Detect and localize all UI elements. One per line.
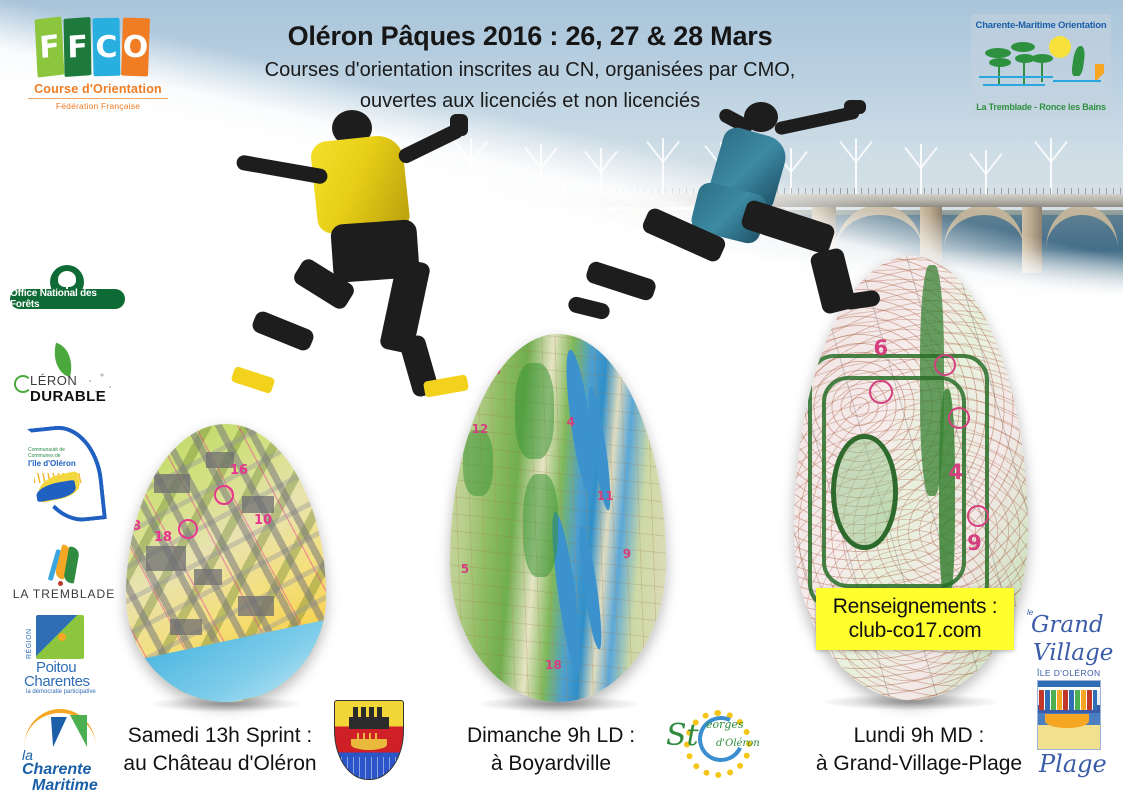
event-caption-samedi-line1: Samedi 13h Sprint :: [96, 722, 344, 750]
runner-icon: [1071, 46, 1086, 76]
cmo-title: Charente-Maritime Orientation: [971, 20, 1111, 31]
ffco-caption-secondary: Fédération Française: [28, 98, 168, 111]
event-caption-samedi: Samedi 13h Sprint : au Château d'Oléron: [96, 722, 344, 777]
control-number: 8: [132, 519, 141, 534]
control-number: 9: [967, 531, 982, 555]
gvp-plage: Plage: [1039, 750, 1107, 778]
green-sail-icon: [70, 715, 87, 747]
event-caption-samedi-line2: au Château d'Oléron: [96, 750, 344, 778]
oleron-durable-line1: LÉRON: [30, 373, 77, 388]
tree-icon: [989, 58, 1011, 67]
poster-canvas: Oléron Pâques 2016 : 26, 27 & 28 Mars Co…: [0, 0, 1123, 794]
onf-logo: Office National des Forêts: [10, 265, 125, 309]
tree-trunk: [998, 64, 1000, 84]
beach-cabins-icon: [1039, 690, 1097, 710]
info-box[interactable]: Renseignements : club-co17.com: [816, 588, 1014, 650]
event-caption-lundi-line2: à Grand-Village-Plage: [790, 750, 1048, 778]
control-number: 5: [461, 562, 469, 576]
tree-icon: [985, 48, 1011, 58]
charente-line3: Maritime: [32, 777, 98, 794]
control-number: 4: [948, 460, 963, 484]
boat-icon: [1045, 714, 1089, 728]
decor-line: [979, 76, 1053, 78]
shield-shape: [334, 700, 404, 780]
control-number: 18: [154, 530, 172, 545]
ffco-letter-o: O: [121, 18, 150, 77]
water-area: [126, 618, 326, 702]
st-georges-line1: eorges: [706, 718, 744, 731]
tree-trunk: [1041, 60, 1043, 82]
male-runner-figure: [228, 110, 558, 430]
st-georges-oleron-logo: St eorges d'Oléron: [650, 702, 780, 778]
ffco-caption-primary: Course d'Orientation: [28, 82, 168, 96]
event-caption-dimanche-line1: Dimanche 9h LD :: [440, 722, 662, 750]
ship-icon: [351, 739, 387, 750]
gvp-ile-doleron: ÎLE D'OLÉRON: [1037, 668, 1101, 678]
poitou-tagline: la démocratie participative: [26, 689, 96, 695]
tree-icon: [1011, 42, 1035, 52]
subtitle-line-2: ouvertes aux licenciés et non licenciés: [170, 88, 890, 115]
event-caption-dimanche: Dimanche 9h LD : à Boyardville: [440, 722, 662, 777]
ffco-letter-f2: F: [64, 17, 92, 77]
oleron-durable-logo: LÉRON DURABLE: [8, 345, 118, 407]
cdc-oleron-logo: Communauté de Communes de l'île d'Oléron: [14, 425, 114, 525]
cmo-subtitle: La Tremblade - Ronce les Bains: [971, 102, 1111, 112]
sprint-map-texture: 16 10 15 18 8: [126, 424, 326, 702]
oleron-durable-line2: DURABLE: [30, 388, 106, 405]
castle-base: [349, 717, 389, 729]
gvp-village: Village: [1033, 640, 1113, 666]
gvp-grand: Grand: [1031, 612, 1104, 638]
control-number: 4: [567, 415, 575, 429]
decor-line: [983, 84, 1045, 86]
onf-label: Office National des Forêts: [10, 289, 125, 309]
ffco-logo: F F C O Course d'Orientation Fédération …: [18, 10, 168, 118]
event-caption-lundi-line1: Lundi 9h MD :: [790, 722, 1048, 750]
tree-trunk: [1023, 60, 1025, 84]
cdc-line1: Communauté de Communes de: [28, 447, 88, 459]
map-marker-icon: [58, 633, 66, 641]
control-number: 18: [545, 658, 562, 672]
ffco-letter-tiles: F F C O: [36, 18, 156, 80]
cmo-logo: Charente-Maritime Orientation La Trembla…: [971, 14, 1111, 118]
waves-pattern: [335, 757, 403, 779]
la-tremblade-logo: LA TREMBLADE: [12, 545, 116, 603]
sun-icon: [1049, 36, 1071, 58]
chateau-oleron-coat-of-arms: [334, 700, 404, 782]
control-number: 16: [230, 463, 248, 478]
subtitle-line-1: Courses d'orientation inscrites au CN, o…: [170, 57, 890, 84]
ffco-letter-c: C: [92, 18, 120, 76]
red-dot-icon: [58, 581, 63, 586]
poitou-charentes-logo: RÉGION Poitou Charentes la démocratie pa…: [14, 615, 114, 693]
control-number: 10: [254, 513, 272, 528]
la-tremblade-label: LA TREMBLADE: [12, 587, 116, 601]
female-runner-figure: [570, 96, 890, 346]
event-caption-lundi: Lundi 9h MD : à Grand-Village-Plage: [790, 722, 1048, 777]
egg-map-sprint: 16 10 15 18 8: [126, 424, 326, 702]
st-initials: St: [666, 718, 699, 753]
event-caption-dimanche-line2: à Boyardville: [440, 750, 662, 778]
blue-sail-icon: [51, 717, 69, 747]
title-block: Oléron Pâques 2016 : 26, 27 & 28 Mars Co…: [170, 20, 890, 115]
info-box-label: Renseignements :: [833, 595, 997, 619]
page-title: Oléron Pâques 2016 : 26, 27 & 28 Mars: [170, 20, 890, 53]
decor-line: [1053, 80, 1101, 82]
control-number: 9: [623, 547, 631, 561]
st-georges-line2: d'Oléron: [716, 738, 760, 749]
region-label: RÉGION: [26, 629, 35, 659]
control-number: 11: [597, 489, 614, 503]
ffco-letter-f1: F: [35, 16, 65, 77]
info-box-website[interactable]: club-co17.com: [849, 619, 982, 643]
cdc-line2: l'île d'Oléron: [28, 459, 76, 468]
sprint-map-egg: 16 10 15 18 8: [126, 424, 326, 702]
charentes-line: Charentes: [24, 673, 90, 690]
